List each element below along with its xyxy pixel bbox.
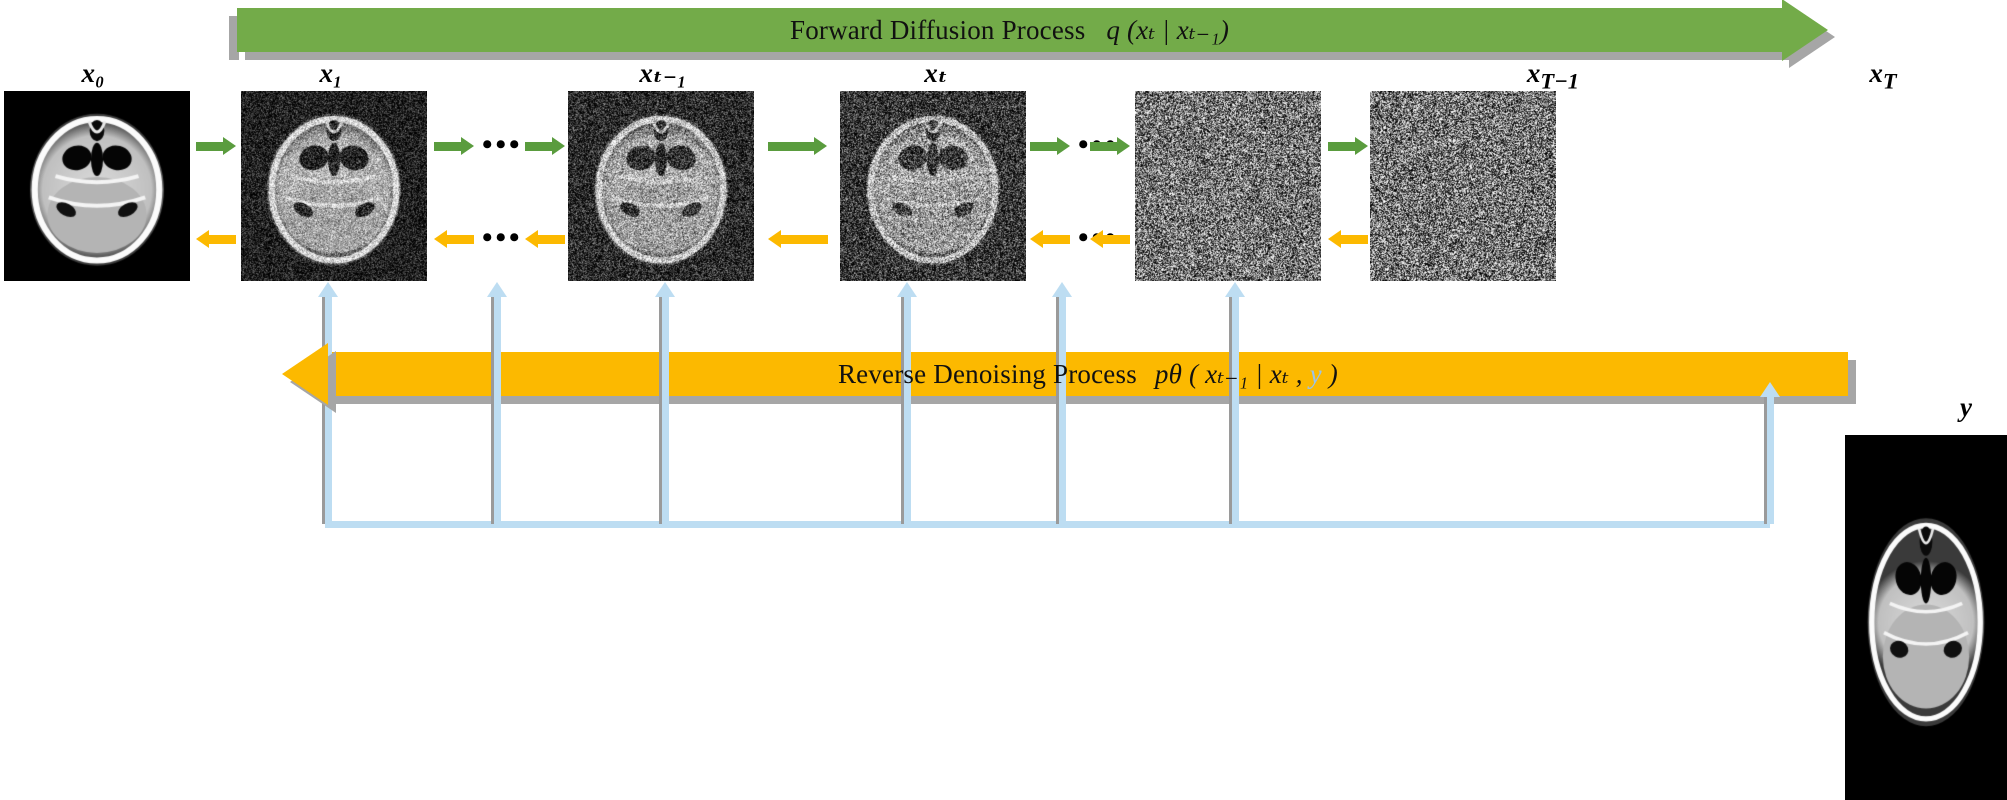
reverse-arrowhead — [282, 343, 328, 405]
forward-mini-arrow-1 — [196, 137, 236, 155]
condition-arrowhead-5 — [1052, 282, 1072, 297]
forward-diffusion-banner: Forward Diffusion Process q (xₜ | xₜ₋₁) — [237, 8, 1782, 52]
ct-image-xT-1 — [1135, 91, 1321, 281]
forward-banner-formula: q (xₜ | xₜ₋₁) — [1106, 15, 1229, 45]
condition-riser-2 — [494, 296, 501, 524]
forward-banner-label: Forward Diffusion Process q (xₜ | xₜ₋₁) — [790, 15, 1229, 46]
reverse-banner-formula: pθ ( xₜ₋₁ | xₜ , y ) — [1155, 359, 1338, 390]
condition-riser-6 — [1232, 296, 1239, 524]
reverse-denoising-banner: Reverse Denoising Process pθ ( xₜ₋₁ | xₜ… — [282, 352, 1848, 396]
diffusion-diagram: Forward Diffusion Process q (xₜ | xₜ₋₁) … — [0, 0, 2007, 800]
condition-arrowhead-2 — [487, 282, 507, 297]
reverse-mini-arrow-1 — [196, 230, 236, 248]
forward-mini-arrow-3 — [768, 137, 828, 155]
ct-image-condition-y — [1845, 435, 2007, 800]
forward-banner-text: Forward Diffusion Process — [790, 15, 1085, 45]
condition-riser-5 — [1059, 296, 1066, 524]
reverse-formula-pre: pθ ( xₜ₋₁ | xₜ , — [1155, 359, 1310, 389]
ct-image-x0 — [4, 91, 190, 281]
forward-mini-arrow-2a — [434, 137, 474, 155]
condition-arrowhead-1 — [318, 282, 338, 297]
reverse-mini-arrow-3 — [768, 230, 828, 248]
condition-riser-source — [1767, 396, 1774, 524]
condition-riser-3 — [662, 296, 669, 524]
reverse-mini-arrow-4a — [1030, 230, 1070, 248]
step-label-xt-1: xₜ₋₁ — [570, 58, 756, 89]
ct-image-x1 — [241, 91, 427, 281]
step-label-x0: x₀ — [0, 58, 186, 89]
forward-mini-arrow-2b — [525, 137, 565, 155]
step-label-xt: xₜ — [843, 58, 1029, 89]
step-label-x1: x₁ — [238, 58, 424, 89]
step-label-xT-1: xT−1 — [1460, 58, 1646, 94]
reverse-mini-arrow-5 — [1328, 230, 1368, 248]
forward-banner-shaft: Forward Diffusion Process q (xₜ | xₜ₋₁) — [237, 8, 1782, 52]
condition-riser-4 — [904, 296, 911, 524]
condition-arrowhead-4 — [897, 282, 917, 297]
reverse-formula-post: ) — [1322, 359, 1338, 389]
reverse-ellipsis-1: ••• — [482, 223, 523, 253]
ct-image-xT — [1370, 91, 1556, 281]
condition-bus-line — [325, 521, 1770, 528]
reverse-banner-text: Reverse Denoising Process — [838, 359, 1137, 390]
forward-mini-arrow-4b — [1090, 137, 1130, 155]
forward-arrowhead — [1782, 0, 1828, 61]
forward-ellipsis-1: ••• — [482, 130, 523, 160]
condition-arrowhead-6 — [1225, 282, 1245, 297]
reverse-mini-arrow-4b — [1090, 230, 1130, 248]
forward-mini-arrow-4a — [1030, 137, 1070, 155]
condition-arrowhead-3 — [655, 282, 675, 297]
reverse-mini-arrow-2b — [525, 230, 565, 248]
ct-image-xt-1 — [568, 91, 754, 281]
forward-mini-arrow-5 — [1328, 137, 1368, 155]
condition-label-y: y — [1960, 392, 1972, 423]
reverse-banner-label: Reverse Denoising Process pθ ( xₜ₋₁ | xₜ… — [328, 352, 1848, 396]
ct-image-xt — [840, 91, 1026, 281]
reverse-mini-arrow-2a — [434, 230, 474, 248]
reverse-formula-y: y — [1310, 359, 1322, 389]
